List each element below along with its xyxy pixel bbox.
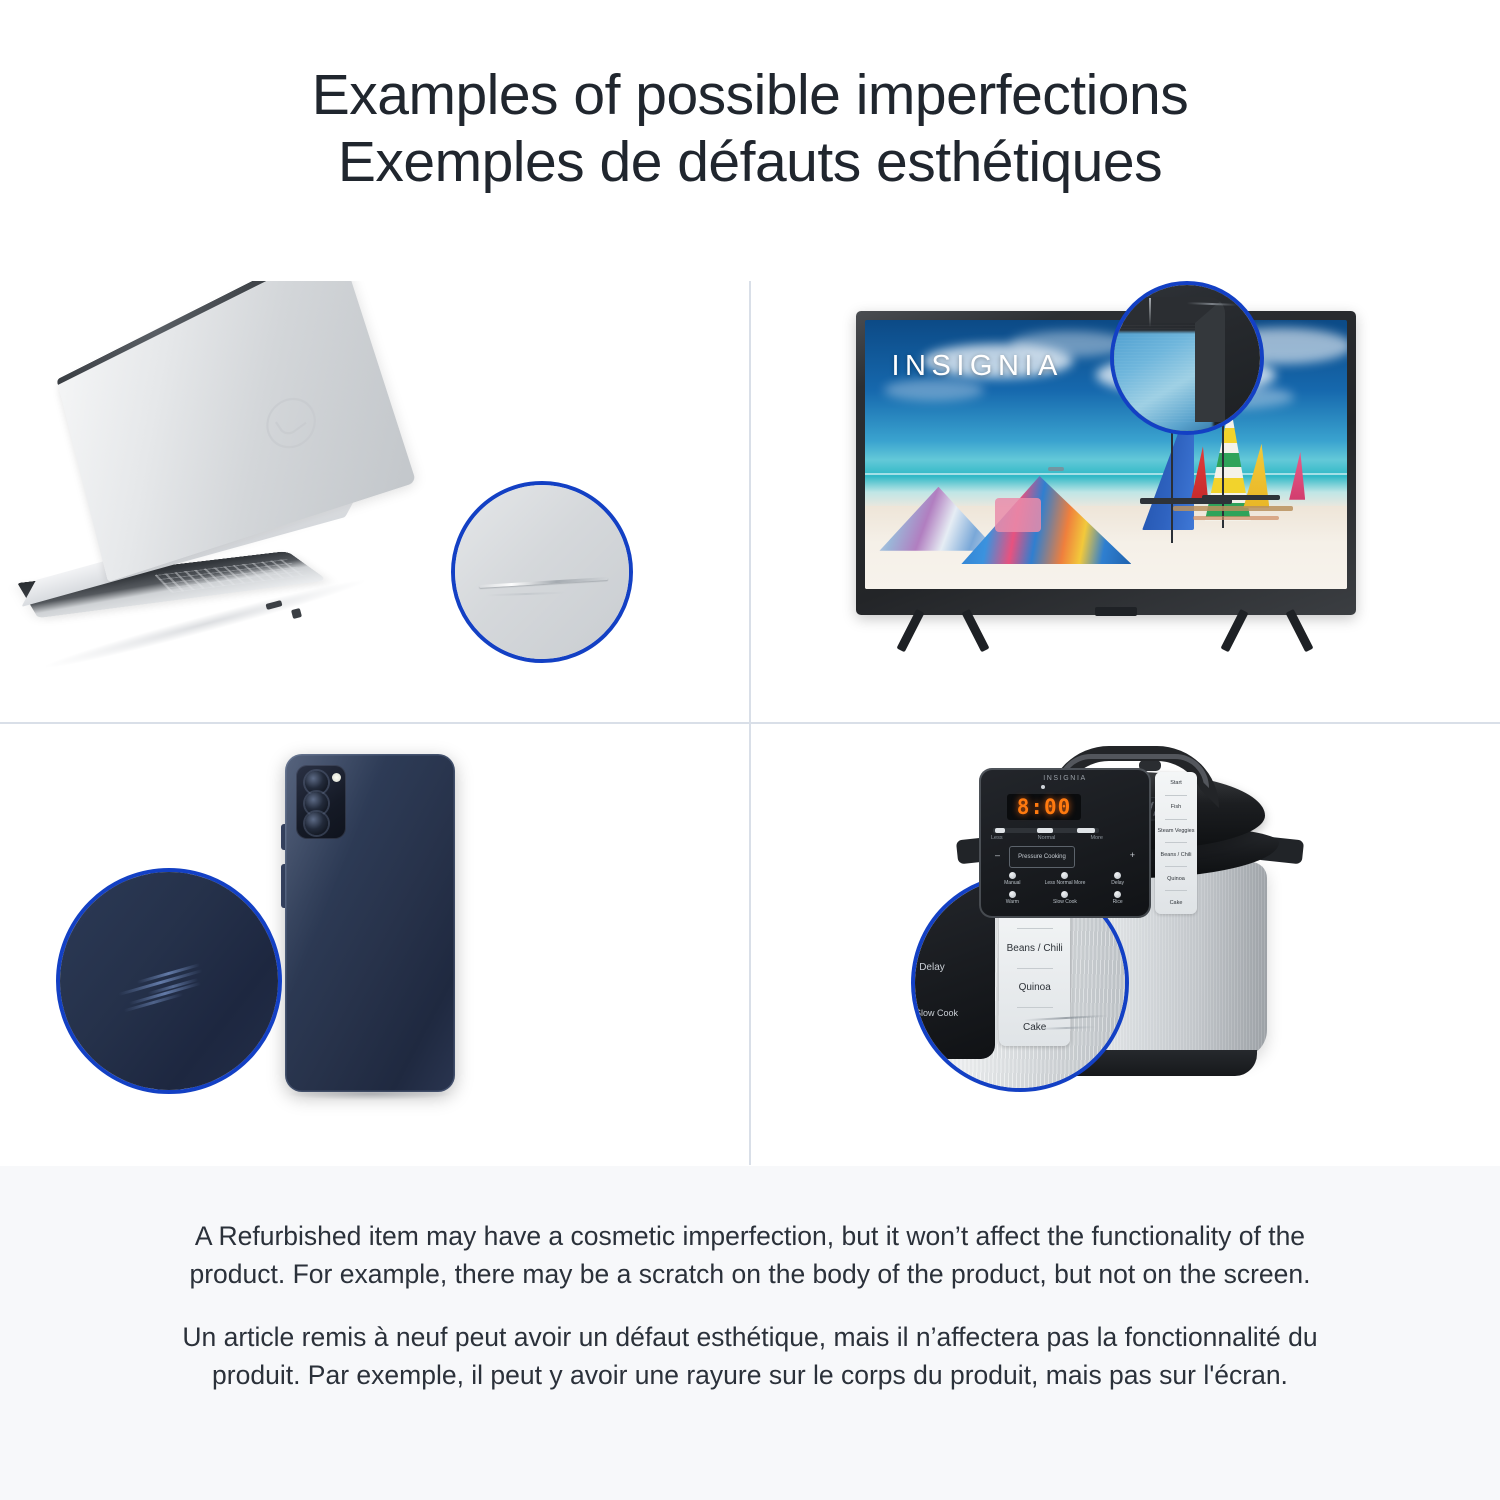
cooker-button[interactable]: Warm	[989, 891, 1036, 906]
insignia-logo: INSIGNIA	[892, 350, 1063, 383]
laptop-keyboard	[154, 559, 309, 593]
dell-logo-icon	[257, 388, 326, 459]
beach-equipment	[1193, 516, 1279, 520]
description-fr: Un article remis à neuf peut avoir un dé…	[178, 1319, 1322, 1394]
tv-screen: INSIGNIA	[865, 320, 1347, 589]
preset-fish[interactable]: Fish	[1171, 804, 1181, 810]
footer-description: A Refurbished item may have a cosmetic i…	[0, 1166, 1500, 1500]
smartphone-illustration	[0, 724, 749, 1165]
magnifier-circle-smartphone	[56, 868, 282, 1094]
tv-bezel: INSIGNIA	[856, 311, 1356, 615]
magnifier-content-television	[1114, 285, 1260, 431]
cooker-preset-column[interactable]: Start Fish Steam Veggies Beans / Chili Q…	[1155, 772, 1197, 914]
cooker-button[interactable]: Delay	[1094, 872, 1141, 887]
preset-beans-chili[interactable]: Beans / Chili	[1161, 852, 1192, 858]
cooker-led-display: 8:00	[1007, 794, 1081, 820]
cooker-level-bar	[993, 828, 1099, 833]
scratch-mark	[479, 577, 608, 588]
cooker-level-labels: Less Normal More	[991, 835, 1103, 841]
tv-stand-leg-left	[904, 611, 982, 653]
cooker-control-panel[interactable]: INSIGNIA 8:00 Less Normal More – +	[979, 768, 1151, 918]
divider	[1165, 842, 1187, 843]
divider	[1165, 890, 1187, 891]
magnifier-circle-television	[1110, 281, 1264, 435]
level-label-normal: Normal	[1038, 835, 1056, 841]
laptop-illustration	[0, 281, 749, 722]
page-title-fr: Exemples de défauts esthétiques	[338, 129, 1162, 196]
divider	[1017, 968, 1053, 969]
tv-stand-leg-right	[1228, 611, 1306, 653]
decrease-button[interactable]: –	[995, 850, 1000, 860]
cooker-mode-key[interactable]: Pressure Cooking	[1009, 846, 1075, 868]
preset-start[interactable]: Start	[1170, 780, 1182, 786]
divider	[1017, 928, 1053, 929]
cooker-brand-label: INSIGNIA	[1043, 775, 1087, 782]
bezel-corner	[1110, 297, 1225, 423]
television-illustration: INSIGNIA	[751, 281, 1500, 722]
quadrant-smartphone	[0, 724, 749, 1165]
page-title-en: Examples of possible imperfections	[312, 62, 1188, 129]
magnifier-content-smartphone	[60, 872, 278, 1090]
description-en: A Refurbished item may have a cosmetic i…	[178, 1218, 1322, 1293]
phone-back-panel	[285, 754, 455, 1092]
sailboat-pink	[1289, 452, 1305, 500]
cooker-display-value: 8:00	[1017, 795, 1072, 819]
divider	[1165, 866, 1187, 867]
magnifier-circle-laptop	[451, 481, 633, 663]
distant-boat	[1048, 467, 1064, 471]
increase-button[interactable]: +	[1130, 850, 1135, 860]
preset-cake[interactable]: Cake	[1170, 900, 1183, 906]
preset-quinoa[interactable]: Quinoa	[1167, 876, 1185, 882]
laptop-lock-slot-icon	[291, 608, 302, 619]
laptop-figure	[30, 366, 450, 646]
camera-lens-icon	[305, 812, 328, 835]
camera-lens-icon	[305, 771, 328, 794]
indicator-light-icon	[1041, 785, 1045, 789]
beach-tent-detail	[995, 498, 1041, 532]
magnified-label-slow-cook: Slow Cook	[915, 1008, 958, 1018]
preset-steam-veggies[interactable]: Steam Veggies	[1158, 828, 1195, 834]
magnifier-content-laptop	[455, 485, 629, 659]
cooker-button[interactable]: Less Normal More	[1042, 872, 1089, 887]
horizon-line	[865, 473, 1347, 475]
scratch-mark-secondary	[486, 591, 566, 596]
quadrant-pressure-cooker: INSIGNIA 8:00 Less Normal More – +	[751, 724, 1500, 1165]
product-grid: INSIGNIA	[0, 281, 1500, 1165]
quadrant-laptop	[0, 281, 749, 722]
header: Examples of possible imperfections Exemp…	[0, 0, 1500, 262]
boat-hull	[1202, 495, 1280, 500]
magnified-preset-quinoa: Quinoa	[1019, 982, 1051, 994]
cooker-button[interactable]: Manual	[989, 872, 1036, 887]
cooker-button-grid[interactable]: Manual Less Normal More Delay Warm Slow …	[989, 872, 1141, 905]
refurbished-imperfections-infographic: Examples of possible imperfections Exemp…	[0, 0, 1500, 1500]
camera-module-icon	[296, 765, 346, 839]
cooker-button[interactable]: Rice	[1094, 891, 1141, 906]
divider	[1165, 795, 1187, 796]
divider	[1165, 819, 1187, 820]
laptop-lid	[58, 281, 417, 582]
divider	[1017, 1007, 1053, 1008]
scratch-mark	[129, 982, 201, 1005]
quadrant-television: INSIGNIA	[751, 281, 1500, 722]
magnified-preset-beans-chili: Beans / Chili	[1007, 943, 1063, 955]
cooker-mode-label: Pressure Cooking	[1018, 854, 1066, 861]
beach-equipment	[1173, 506, 1293, 511]
magnified-label-delay: Delay	[919, 962, 945, 973]
scuff-mark	[1149, 298, 1151, 327]
cooker-button[interactable]: Slow Cook	[1042, 891, 1089, 906]
level-label-more: More	[1090, 835, 1103, 841]
pressure-cooker-illustration: INSIGNIA 8:00 Less Normal More – +	[751, 724, 1500, 1165]
camera-flash-icon	[332, 773, 341, 782]
tv-ir-sensor	[1095, 607, 1137, 616]
smartphone-figure	[255, 746, 515, 1146]
level-label-less: Less	[991, 835, 1003, 841]
